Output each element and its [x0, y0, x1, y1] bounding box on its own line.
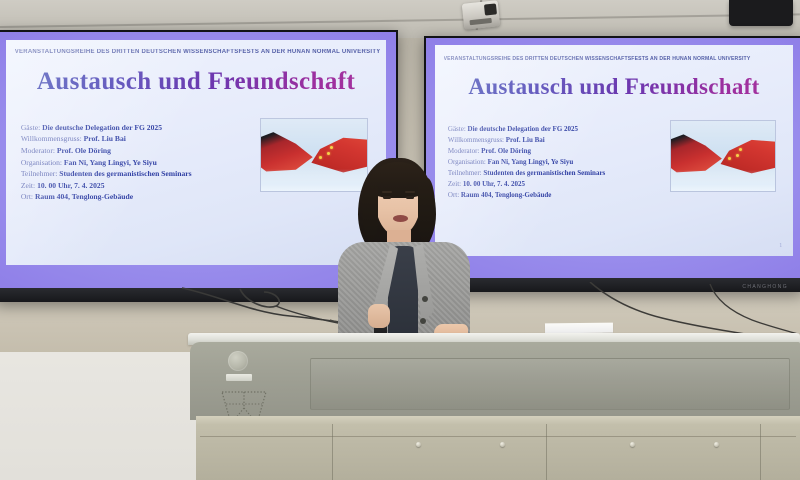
info-row: Moderator: Prof. Ole Döring — [21, 145, 192, 157]
info-value: Prof. Ole Döring — [481, 147, 531, 155]
info-value: Prof. Ole Döring — [57, 146, 111, 155]
cabinet-seam — [760, 424, 761, 480]
handshake-flags-image — [671, 121, 775, 191]
info-row: Willkommensgruss: Prof. Liu Bai — [21, 133, 192, 145]
slide-number: 1 — [779, 243, 782, 249]
lecture-hall-scene: VERANSTALTUNGSREIHE DES DRITTEN DEUTSCHE… — [0, 0, 800, 480]
podium-front-panel — [310, 358, 790, 410]
presenter — [330, 158, 480, 348]
slide-title: Austausch und Freundschaft — [6, 68, 387, 96]
podium-base-lip — [196, 416, 800, 424]
image-gloss — [671, 170, 775, 191]
podium-name-plate — [226, 374, 252, 381]
cabinet-knob[interactable] — [714, 442, 719, 447]
right-slide: VERANSTALTUNGSREIHE DES DRITTEN DEUTSCHE… — [435, 45, 793, 256]
mouth — [393, 215, 408, 222]
hand-left — [368, 304, 390, 328]
cabinet-top-line — [200, 436, 796, 437]
info-row: Teilnehmer: Studenten des germanistische… — [21, 168, 192, 180]
info-row: Moderator: Prof. Ole Döring — [448, 146, 605, 157]
cabinet-knob[interactable] — [416, 442, 421, 447]
info-row: Zeit: 10. 00 Uhr, 7. 4. 2025 — [21, 180, 192, 192]
eye-left — [383, 196, 391, 199]
ceiling-camera-icon — [462, 0, 501, 30]
slide-kicker: VERANSTALTUNGSREIHE DES DRITTEN DEUTSCHE… — [444, 56, 788, 62]
info-value: Die deutsche Delegation der FG 2025 — [42, 123, 162, 132]
info-label: Organisation: — [21, 158, 62, 167]
podium-base-cabinets — [196, 416, 800, 480]
cabinet-knob[interactable] — [500, 442, 505, 447]
wall-speaker-icon — [729, 0, 793, 26]
info-row: Willkommensgruss: Prof. Liu Bai — [448, 135, 605, 146]
eyebrow-left — [382, 191, 392, 193]
info-label: Gäste: — [21, 123, 40, 132]
info-label: Teilnehmer: — [21, 169, 58, 178]
podium-emblem-icon — [228, 351, 248, 371]
camera-lens-icon — [484, 3, 497, 15]
info-label: Willkommensgruss: — [448, 136, 504, 144]
info-row: Gäste: Die deutsche Delegation der FG 20… — [448, 124, 605, 135]
info-value: Fan Ni, Yang Lingyi, Ye Siyu — [64, 158, 157, 167]
slide-title: Austausch und Freundschaft — [435, 74, 793, 100]
info-value: Raum 404, Tenglong-Gebäude — [35, 192, 133, 201]
cabinet-seam — [546, 424, 547, 480]
ceiling-seam — [0, 13, 800, 28]
right-display[interactable]: VERANSTALTUNGSREIHE DES DRITTEN DEUTSCHE… — [424, 36, 800, 292]
info-row: Organisation: Fan Ni, Yang Lingyi, Ye Si… — [21, 157, 192, 169]
info-row: Ort: Raum 404, Tenglong-Gebäude — [21, 191, 192, 203]
info-label: Gäste: — [448, 125, 466, 133]
blazer-button — [420, 318, 426, 324]
info-label: Ort: — [21, 192, 33, 201]
hair-side-left — [362, 178, 378, 240]
document-on-podium — [545, 323, 613, 334]
info-value: Die deutsche Delegation der FG 2025 — [468, 125, 579, 133]
right-display-panel: VERANSTALTUNGSREIHE DES DRITTEN DEUTSCHE… — [426, 38, 800, 278]
cabinet-seam — [332, 424, 333, 480]
info-value: Prof. Liu Bai — [506, 136, 545, 144]
info-label: Zeit: — [21, 181, 35, 190]
eyebrow-right — [405, 191, 415, 193]
info-label: Moderator: — [448, 147, 480, 155]
info-value: Fan Ni, Yang Lingyi, Ye Siyu — [488, 158, 574, 166]
info-label: Moderator: — [21, 146, 55, 155]
camera-body-strip — [469, 18, 491, 25]
cabinet-knob[interactable] — [630, 442, 635, 447]
blazer-button — [422, 296, 428, 302]
info-value: Studenten des germanistischen Seminars — [483, 169, 605, 177]
info-label: Willkommensgruss: — [21, 134, 82, 143]
slide-info-list: Gäste: Die deutsche Delegation der FG 20… — [21, 122, 192, 203]
info-value: 10. 00 Uhr, 7. 4. 2025 — [37, 181, 104, 190]
german-flag-hand-icon — [261, 129, 323, 174]
slide-kicker: VERANSTALTUNGSREIHE DES DRITTEN DEUTSCHE… — [15, 49, 381, 55]
eye-right — [406, 196, 414, 199]
german-flag-hand-icon — [671, 131, 731, 174]
info-value: Studenten des germanistischen Seminars — [59, 169, 191, 178]
chinese-flag-hand-icon — [711, 135, 775, 174]
info-value: Prof. Liu Bai — [84, 134, 126, 143]
wall-lower-left — [0, 352, 196, 480]
info-row: Gäste: Die deutsche Delegation der FG 20… — [21, 122, 192, 134]
